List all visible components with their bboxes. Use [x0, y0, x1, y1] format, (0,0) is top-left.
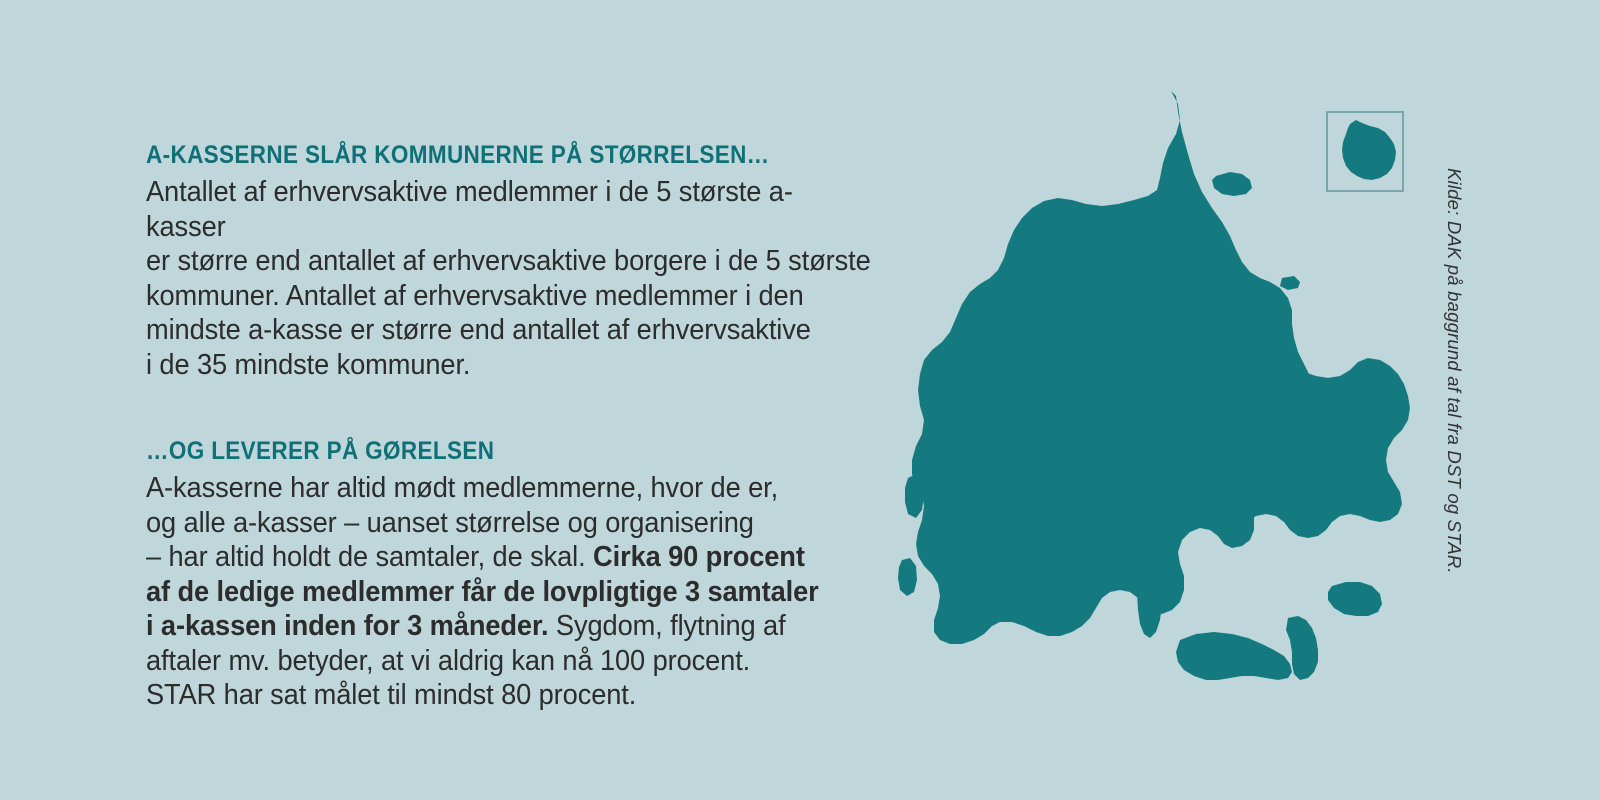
denmark-map-svg: [880, 78, 1480, 718]
body-line: af de ledige medlemmer får de lovpligtig…: [146, 575, 872, 610]
body-line: mindste a-kasse er større end antallet a…: [146, 313, 872, 348]
map-region-als: [1012, 572, 1060, 612]
body-line: er større end antallet af erhvervsaktive…: [146, 244, 872, 279]
denmark-map: [880, 78, 1480, 718]
map-region-jutland: [912, 91, 1314, 644]
text-block-size: A-KASSERNE SLÅR KOMMUNERNE PÅ STØRRELSEN…: [146, 140, 906, 382]
body-line: – har altid holdt de samtaler, de skal. …: [146, 540, 872, 575]
body-line: i de 35 mindste kommuner.: [146, 348, 872, 383]
block-body-delivery: A-kasserne har altid mødt medlemmerne, h…: [146, 471, 872, 713]
body-text: aftaler mv. betyder, at vi aldrig kan nå…: [146, 645, 750, 677]
body-text: Sygdom, flytning af: [548, 610, 785, 642]
text-block-delivery: …OG LEVERER PÅ GØRELSEN A-kasserne har a…: [146, 436, 906, 713]
body-text: A-kasserne har altid mødt medlemmerne, h…: [146, 472, 778, 504]
body-emphasis: i a-kassen inden for 3 måneder.: [146, 610, 548, 642]
body-line: i a-kassen inden for 3 måneder. Sygdom, …: [146, 609, 872, 644]
body-line: og alle a-kasser – uanset størrelse og o…: [146, 506, 872, 541]
body-text: – har altid holdt de samtaler, de skal.: [146, 541, 593, 573]
body-line: A-kasserne har altid mødt medlemmerne, h…: [146, 471, 872, 506]
text-column: A-KASSERNE SLÅR KOMMUNERNE PÅ STØRRELSEN…: [146, 140, 906, 713]
body-line: STAR har sat målet til mindst 80 procent…: [146, 678, 872, 713]
map-region-moen: [1328, 582, 1382, 616]
map-region-roemoe: [898, 558, 917, 596]
map-region-lolland: [1176, 632, 1292, 680]
body-line: Antallet af erhvervsaktive medlemmer i d…: [146, 175, 872, 244]
map-region-laesoe: [1212, 172, 1252, 196]
body-text: STAR har sat målet til mindst 80 procent…: [146, 679, 636, 711]
body-line: aftaler mv. betyder, at vi aldrig kan nå…: [146, 644, 872, 679]
infographic-canvas: A-KASSERNE SLÅR KOMMUNERNE PÅ STØRRELSEN…: [0, 0, 1600, 800]
body-text: og alle a-kasser – uanset størrelse og o…: [146, 507, 754, 539]
block-heading-size: A-KASSERNE SLÅR KOMMUNERNE PÅ STØRRELSEN…: [146, 140, 830, 170]
map-region-anholt: [1280, 276, 1300, 290]
block-body-size: Antallet af erhvervsaktive medlemmer i d…: [146, 175, 872, 382]
block-heading-delivery: …OG LEVERER PÅ GØRELSEN: [146, 436, 830, 466]
body-line: kommuner. Antallet af erhvervsaktive med…: [146, 279, 872, 314]
body-emphasis: Cirka 90 procent: [593, 541, 805, 573]
body-emphasis: af de ledige medlemmer får de lovpligtig…: [146, 576, 819, 608]
map-region-langeland: [1137, 552, 1162, 638]
map-region-bornholm: [1342, 120, 1396, 180]
